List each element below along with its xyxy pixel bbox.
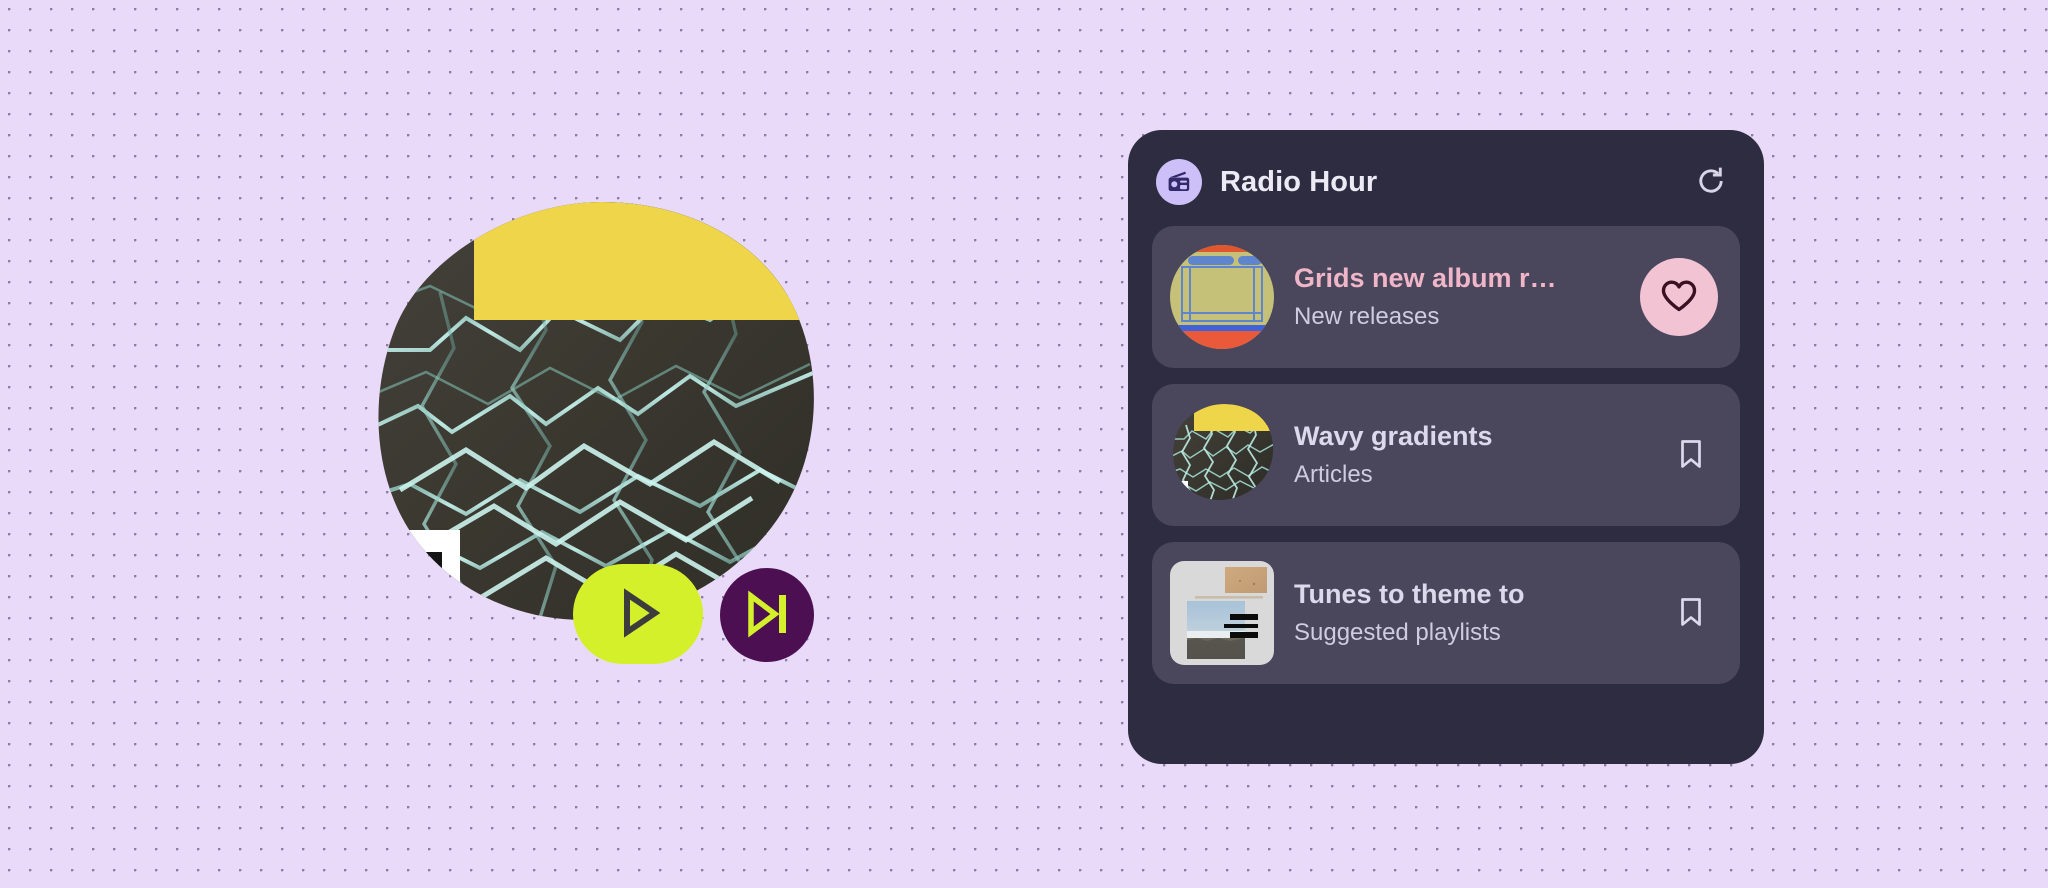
play-button[interactable] xyxy=(573,564,703,664)
refresh-icon xyxy=(1694,164,1728,201)
list-item-text: Tunes to theme to Suggested playlists xyxy=(1294,578,1664,648)
list-item[interactable]: Wavy gradients Articles xyxy=(1152,384,1740,526)
list-item-title: Grids new album r… xyxy=(1294,262,1640,296)
card-header: Radio Hour xyxy=(1152,152,1740,212)
heart-icon xyxy=(1659,276,1699,319)
list-item-title: Wavy gradients xyxy=(1294,420,1664,454)
beach-collage-thumbnail xyxy=(1170,561,1274,665)
list-item-subtitle: Articles xyxy=(1294,460,1664,490)
refresh-button[interactable] xyxy=(1690,161,1732,203)
page-title: Radio Hour xyxy=(1220,166,1377,199)
play-icon xyxy=(609,584,667,645)
white-square-motif xyxy=(370,530,460,650)
wavy-gradients-thumbnail xyxy=(1170,403,1274,507)
canvas: Radio Hour xyxy=(0,0,2048,888)
list-item[interactable]: Grids new album r… New releases xyxy=(1152,226,1740,368)
list-item-text: Wavy gradients Articles xyxy=(1294,420,1664,490)
favorite-button[interactable] xyxy=(1640,258,1718,336)
radio-hour-card: Radio Hour xyxy=(1128,130,1764,764)
bookmark-button[interactable] xyxy=(1664,586,1718,640)
list-item[interactable]: Tunes to theme to Suggested playlists xyxy=(1152,542,1740,684)
skip-next-icon xyxy=(741,588,793,643)
list-item-title: Tunes to theme to xyxy=(1294,578,1664,612)
list-item-subtitle: New releases xyxy=(1294,302,1640,332)
bookmark-button[interactable] xyxy=(1664,428,1718,482)
media-list: Grids new album r… New releases xyxy=(1152,226,1740,684)
grid-album-thumbnail xyxy=(1170,245,1274,349)
radio-icon xyxy=(1156,159,1202,205)
list-item-subtitle: Suggested playlists xyxy=(1294,618,1664,648)
bookmark-icon xyxy=(1674,437,1708,474)
bookmark-icon xyxy=(1674,595,1708,632)
skip-next-button[interactable] xyxy=(720,568,814,662)
list-item-text: Grids new album r… New releases xyxy=(1294,262,1640,332)
